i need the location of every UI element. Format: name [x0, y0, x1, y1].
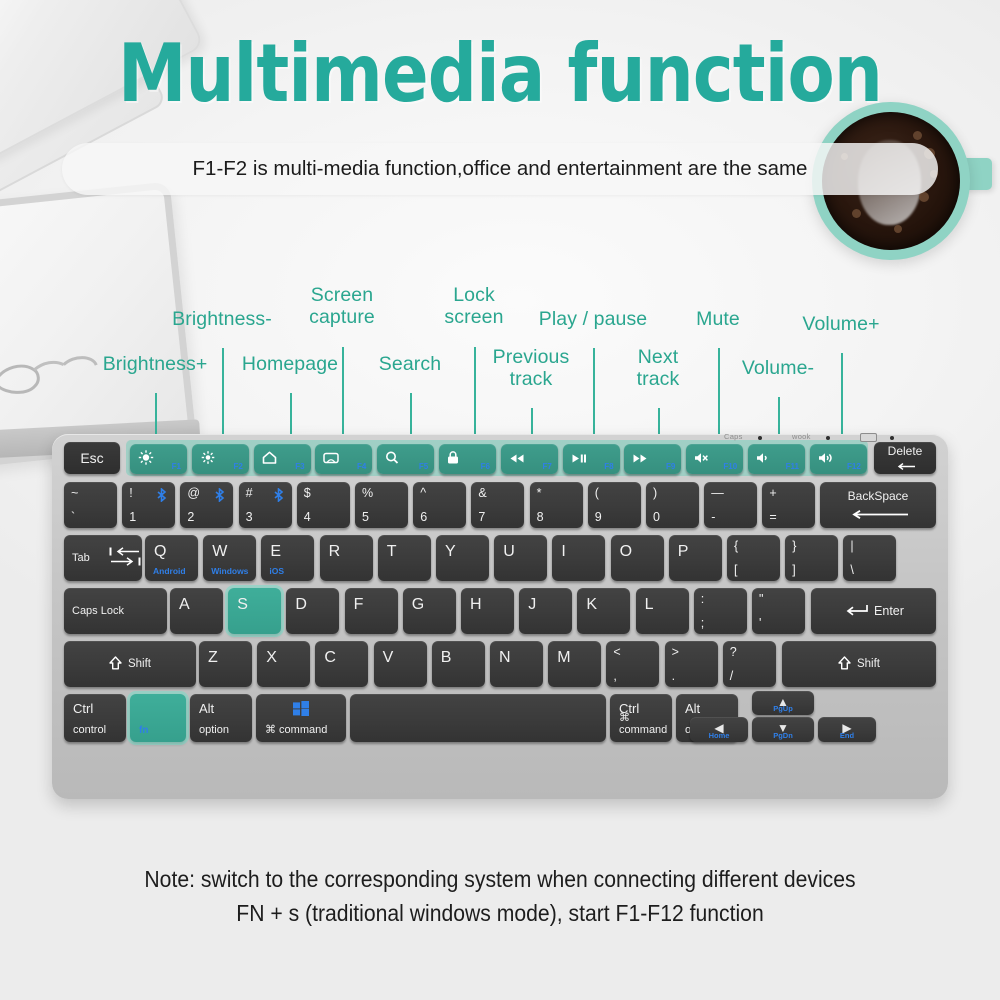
function-key-number: F3: [295, 462, 304, 471]
shift-right-key[interactable]: Shift: [782, 641, 936, 687]
key-primary-label: Y: [445, 543, 456, 561]
key-u[interactable]: U: [494, 535, 547, 581]
key-primary-label: T: [387, 543, 397, 561]
shift-arrow-icon: [109, 656, 122, 673]
callout-homepage: Homepage: [225, 353, 355, 375]
key-primary-label: ': [759, 616, 761, 630]
key-primary-label: ;: [701, 616, 704, 630]
key-v[interactable]: V: [374, 641, 427, 687]
key-primary-label: A: [179, 596, 190, 614]
arrow-down-key[interactable]: ▼PgDn: [752, 717, 814, 742]
volume-up-icon: [818, 451, 835, 467]
function-key-number: F10: [723, 462, 737, 471]
function-key-f3[interactable]: F3: [254, 444, 311, 474]
arrow-right-key-secondary-label: End: [840, 731, 854, 740]
function-key-number: F4: [357, 462, 366, 471]
arrow-right-key[interactable]: ▶End: [818, 717, 876, 742]
bluetooth-icon: [214, 488, 225, 505]
shift-label: Shift: [128, 658, 151, 670]
key-primary-label: B: [441, 649, 452, 667]
shift-content: Shift: [64, 641, 196, 687]
key-6[interactable]: ^6: [413, 482, 466, 528]
key-os-label: Windows: [211, 566, 248, 576]
key-primary-label: F: [354, 596, 364, 614]
key-b[interactable]: B: [432, 641, 485, 687]
key-[interactable]: |\: [843, 535, 896, 581]
footer-note: Note: switch to the corresponding system…: [40, 862, 960, 930]
key-primary-label: [: [734, 563, 737, 577]
key-[interactable]: >.: [665, 641, 718, 687]
battery-icon: [860, 433, 877, 442]
bluetooth-icon: [273, 488, 284, 505]
key-r[interactable]: R: [320, 535, 373, 581]
brightness-up-icon: [138, 450, 154, 469]
arrow-left-key[interactable]: ◀Home: [690, 717, 748, 742]
enter-content: Enter: [811, 588, 936, 634]
backspace-content: BackSpace: [820, 482, 936, 528]
key-primary-label: /: [730, 669, 733, 683]
tab-label: Tab: [72, 552, 90, 564]
fn-key[interactable]: fn: [130, 694, 186, 742]
key-primary-label: .: [672, 669, 675, 683]
key-1[interactable]: !1: [122, 482, 175, 528]
infographic-canvas: Multimedia function F1-F2 is multi-media…: [0, 0, 1000, 1000]
key-7[interactable]: &7: [471, 482, 524, 528]
function-key-number: F1: [172, 462, 181, 471]
function-key-number: F11: [786, 462, 799, 471]
key-shift-label: !: [129, 486, 132, 500]
function-key-f7[interactable]: F7: [501, 444, 558, 474]
key-g[interactable]: G: [403, 588, 456, 634]
key-primary-label: 3: [246, 510, 253, 524]
brightness-down-icon: [200, 450, 216, 469]
key-shift-label: }: [792, 539, 796, 553]
key-primary-label: 7: [478, 510, 485, 524]
fn-label: fn: [139, 725, 148, 736]
backspace-arrow-icon: [894, 458, 916, 473]
key-primary-label: U: [503, 543, 515, 561]
key-shift-label: ): [653, 486, 657, 500]
key-h[interactable]: H: [461, 588, 514, 634]
key-primary-label: C: [324, 649, 336, 667]
keyboard-keys: EscF1F2F3F4F5F6F7F8F9F10F11F12DeleteCaps…: [52, 434, 948, 799]
ctrl-right-key[interactable]: Ctrl⌘ command: [610, 694, 672, 742]
function-key-f12[interactable]: F12: [810, 444, 867, 474]
key-[interactable]: —-: [704, 482, 757, 528]
ctrl-left-key[interactable]: Ctrlcontrol: [64, 694, 126, 742]
keyboard: EscF1F2F3F4F5F6F7F8F9F10F11F12DeleteCaps…: [52, 434, 948, 799]
key-o[interactable]: O: [611, 535, 664, 581]
key-primary-label: -: [711, 510, 715, 524]
key-primary-label: ,: [613, 669, 616, 683]
key-primary-label: 4: [304, 510, 311, 524]
screen-capture-icon: [323, 451, 339, 467]
key-p[interactable]: P: [669, 535, 722, 581]
key-a[interactable]: A: [170, 588, 223, 634]
key-4[interactable]: $4: [297, 482, 350, 528]
footer-note-line2: FN + s (traditional windows mode), start…: [40, 896, 960, 930]
arrow-left-key-secondary-label: Home: [709, 731, 730, 740]
key-[interactable]: :;: [694, 588, 747, 634]
volume-down-icon: [756, 451, 771, 467]
key-n[interactable]: N: [490, 641, 543, 687]
key-shift-label: {: [734, 539, 738, 553]
subtitle-banner: F1-F2 is multi-media function,office and…: [62, 143, 938, 195]
function-key-number: F6: [481, 462, 490, 471]
key-s[interactable]: S: [228, 588, 281, 634]
callout-screen-capture: Screen capture: [282, 284, 402, 328]
function-key-f9[interactable]: F9: [624, 444, 681, 474]
function-key-number: F8: [604, 462, 613, 471]
function-key-number: F7: [542, 462, 551, 471]
key-primary-label: N: [499, 649, 511, 667]
shift-label: Shift: [857, 658, 880, 670]
key-primary-label: 2: [187, 510, 194, 524]
command-left-key[interactable]: ⌘ command: [256, 694, 346, 742]
key-t[interactable]: T: [378, 535, 431, 581]
subtitle-text: F1-F2 is multi-media function,office and…: [193, 157, 808, 181]
space-bar[interactable]: [350, 694, 606, 742]
arrow-up-key[interactable]: ▲PgUp: [752, 691, 814, 715]
key-shift-label: $: [304, 486, 311, 500]
key-q[interactable]: QAndroid: [145, 535, 198, 581]
key-c[interactable]: C: [315, 641, 368, 687]
key-j[interactable]: J: [519, 588, 572, 634]
previous-track-icon: [509, 451, 525, 467]
function-key-f8[interactable]: F8: [563, 444, 620, 474]
key-os-label: Android: [153, 566, 186, 576]
key-primary-label: V: [383, 649, 394, 667]
key-primary-label: =: [769, 510, 776, 524]
key-primary-label: I: [561, 543, 565, 561]
backspace-key[interactable]: BackSpace: [820, 482, 936, 528]
key-5[interactable]: %5: [355, 482, 408, 528]
key-e[interactable]: EiOS: [261, 535, 314, 581]
key-primary-label: X: [266, 649, 277, 667]
play-pause-icon: [571, 451, 587, 467]
key-shift-label: |: [850, 539, 853, 553]
key-8[interactable]: *8: [530, 482, 583, 528]
callout-lock-screen: Lock screen: [419, 284, 529, 328]
indicator-label-wook: wook: [792, 432, 811, 441]
delete-key[interactable]: Delete: [874, 442, 936, 474]
callout-leader-line: [531, 408, 533, 435]
callout-volume-down: Volume-: [718, 357, 838, 379]
callout-next-track: Next track: [603, 346, 713, 390]
key-[interactable]: <,: [606, 641, 659, 687]
key-primary-label: R: [329, 543, 341, 561]
key-[interactable]: }]: [785, 535, 838, 581]
key-bottom-label: option: [199, 724, 229, 736]
key-f[interactable]: F: [345, 588, 398, 634]
page-title: Multimedia function: [70, 34, 930, 114]
windows-icon: [293, 701, 309, 719]
function-key-number: F12: [847, 462, 861, 471]
key-shift-label: %: [362, 486, 373, 500]
callout-layer: Brightness+Brightness-HomepageScreen cap…: [0, 275, 1000, 455]
key-[interactable]: "': [752, 588, 805, 634]
key-shift-label: ": [759, 592, 763, 606]
key-bottom-label: ⌘ command: [619, 711, 672, 736]
callout-previous-track: Previous track: [466, 346, 596, 390]
key-l[interactable]: L: [636, 588, 689, 634]
function-key-f4[interactable]: F4: [315, 444, 372, 474]
callout-leader-line: [658, 408, 660, 435]
key-shift-label: ?: [730, 645, 737, 659]
key-y[interactable]: Y: [436, 535, 489, 581]
backspace-arrow-icon: [847, 507, 909, 522]
key-os-label: iOS: [269, 566, 284, 576]
enter-arrow-icon: [843, 604, 869, 619]
key-shift-label: (: [595, 486, 599, 500]
callout-leader-line: [342, 347, 344, 435]
key-primary-label: 6: [420, 510, 427, 524]
key-d[interactable]: D: [286, 588, 339, 634]
key-primary-label: H: [470, 596, 482, 614]
key-x[interactable]: X: [257, 641, 310, 687]
delete-key-content: Delete: [874, 442, 936, 474]
key-shift-label: ^: [420, 486, 426, 500]
key-primary-label: J: [528, 596, 536, 614]
key-bottom-label: control: [73, 724, 106, 736]
key-primary-label: 8: [537, 510, 544, 524]
key-top-label: Alt: [199, 701, 214, 716]
key-primary-label: L: [645, 596, 654, 614]
key-[interactable]: +=: [762, 482, 815, 528]
key-3[interactable]: #3: [239, 482, 292, 528]
callout-search: Search: [355, 353, 465, 375]
key-2[interactable]: @2: [180, 482, 233, 528]
key-z[interactable]: Z: [199, 641, 252, 687]
key-primary-label: \: [850, 563, 853, 577]
esc-key[interactable]: Esc: [64, 442, 120, 474]
key-[interactable]: ?/: [723, 641, 776, 687]
key-shift-label: —: [711, 486, 724, 500]
indicator-label-caps: Caps: [724, 432, 743, 441]
key-0[interactable]: )0: [646, 482, 699, 528]
caps-lock-label: Caps Lock: [72, 605, 124, 617]
next-track-icon: [632, 451, 648, 467]
key-primary-label: P: [678, 543, 689, 561]
key-shift-label: #: [246, 486, 253, 500]
function-key-f1[interactable]: F1: [130, 444, 187, 474]
key-shift-label: @: [187, 486, 200, 500]
key-shift-label: &: [478, 486, 486, 500]
key-[interactable]: {[: [727, 535, 780, 581]
enter-label: Enter: [874, 604, 904, 618]
function-key-f11[interactable]: F11: [748, 444, 805, 474]
key-primary-label: O: [620, 543, 632, 561]
callout-play-pause: Play / pause: [518, 308, 668, 330]
arrow-up-key-secondary-label: PgUp: [773, 704, 793, 713]
key-shift-label: <: [613, 645, 620, 659]
key-i[interactable]: I: [552, 535, 605, 581]
function-key-f2[interactable]: F2: [192, 444, 249, 474]
function-key-number: F5: [419, 462, 428, 471]
callout-volume-up: Volume+: [776, 313, 906, 335]
key-primary-label: 1: [129, 510, 136, 524]
bluetooth-icon: [156, 488, 167, 505]
backspace-label: BackSpace: [848, 489, 909, 503]
callout-leader-line: [155, 393, 157, 435]
caps-lock-key[interactable]: Caps Lock: [64, 588, 167, 634]
lock-icon: [447, 451, 459, 468]
key-primary-label: W: [212, 543, 227, 561]
indicator-led: [890, 436, 894, 440]
callout-leader-line: [593, 348, 595, 435]
callout-brightness-up: Brightness+: [90, 353, 220, 375]
enter-key[interactable]: Enter: [811, 588, 936, 634]
mute-icon: [694, 451, 709, 467]
shift-left-key[interactable]: Shift: [64, 641, 196, 687]
callout-leader-line: [841, 353, 843, 435]
alt-left-key[interactable]: Altoption: [190, 694, 252, 742]
key-m[interactable]: M: [548, 641, 601, 687]
esc-label: Esc: [64, 442, 120, 474]
key-bottom-label: ⌘ command: [265, 723, 327, 736]
callout-leader-line: [778, 397, 780, 435]
key-primary-label: D: [295, 596, 307, 614]
shift-arrow-icon: [838, 656, 851, 673]
callout-leader-line: [410, 393, 412, 435]
tab-arrows-icon: [108, 546, 142, 571]
function-key-f6[interactable]: F6: [439, 444, 496, 474]
key-primary-label: 5: [362, 510, 369, 524]
key-w[interactable]: WWindows: [203, 535, 256, 581]
key-primary-label: 9: [595, 510, 602, 524]
arrow-down-key-secondary-label: PgDn: [773, 731, 793, 740]
key-shift-label: >: [672, 645, 679, 659]
key-primary-label: G: [412, 596, 424, 614]
footer-note-line1: Note: switch to the corresponding system…: [40, 862, 960, 896]
function-key-f10[interactable]: F10: [686, 444, 743, 474]
callout-leader-line: [222, 348, 224, 435]
key-top-label: Ctrl: [73, 701, 93, 716]
key-primary-label: S: [237, 596, 248, 614]
key-shift-label: :: [701, 592, 704, 606]
key-9[interactable]: (9: [588, 482, 641, 528]
key-primary-label: E: [270, 543, 281, 561]
tab-key[interactable]: Tab: [64, 535, 142, 581]
callout-brightness-down: Brightness-: [157, 308, 287, 330]
key-shift-label: ~: [71, 486, 78, 500]
key-k[interactable]: K: [577, 588, 630, 634]
function-key-number: F2: [233, 462, 242, 471]
indicator-led: [758, 436, 762, 440]
function-key-number: F9: [666, 462, 675, 471]
indicator-led: [826, 436, 830, 440]
callout-mute: Mute: [663, 308, 773, 330]
key-[interactable]: ~`: [64, 482, 117, 528]
function-key-f5[interactable]: F5: [377, 444, 434, 474]
key-top-label: Alt: [685, 701, 700, 716]
key-primary-label: Q: [154, 543, 166, 561]
shift-content: Shift: [782, 641, 936, 687]
key-shift-label: +: [769, 486, 776, 500]
search-icon: [385, 451, 399, 468]
key-primary-label: 0: [653, 510, 660, 524]
home-icon: [262, 451, 277, 467]
key-shift-label: *: [537, 486, 542, 500]
key-primary-label: Z: [208, 649, 218, 667]
callout-leader-line: [290, 393, 292, 435]
delete-label: Delete: [888, 444, 923, 458]
key-primary-label: M: [557, 649, 570, 667]
key-primary-label: K: [586, 596, 597, 614]
key-primary-label: ]: [792, 563, 795, 577]
key-primary-label: `: [71, 510, 75, 524]
